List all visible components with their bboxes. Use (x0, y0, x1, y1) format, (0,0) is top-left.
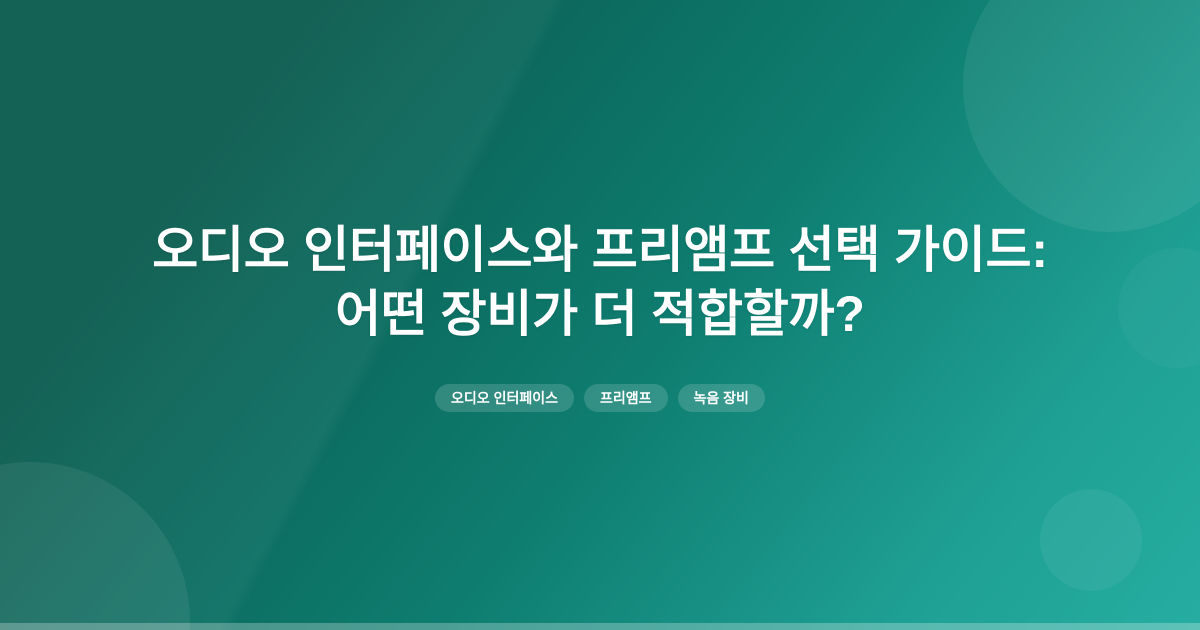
tag-recording-gear[interactable]: 녹음 장비 (678, 384, 765, 412)
page-title-line-1: 오디오 인터페이스와 프리앰프 선택 가이드: (152, 222, 1048, 278)
page-title: 오디오 인터페이스와 프리앰프 선택 가이드: 어떤 장비가 더 적합할까? (152, 218, 1048, 346)
tag-list: 오디오 인터페이스 프리앰프 녹음 장비 (435, 384, 765, 412)
tag-preamp[interactable]: 프리앰프 (584, 384, 668, 412)
card-content: 오디오 인터페이스와 프리앰프 선택 가이드: 어떤 장비가 더 적합할까? 오… (0, 0, 1200, 630)
social-share-card: 오디오 인터페이스와 프리앰프 선택 가이드: 어떤 장비가 더 적합할까? 오… (0, 0, 1200, 630)
page-title-line-2: 어떤 장비가 더 적합할까? (335, 286, 864, 342)
tag-audio-interface[interactable]: 오디오 인터페이스 (435, 384, 574, 412)
